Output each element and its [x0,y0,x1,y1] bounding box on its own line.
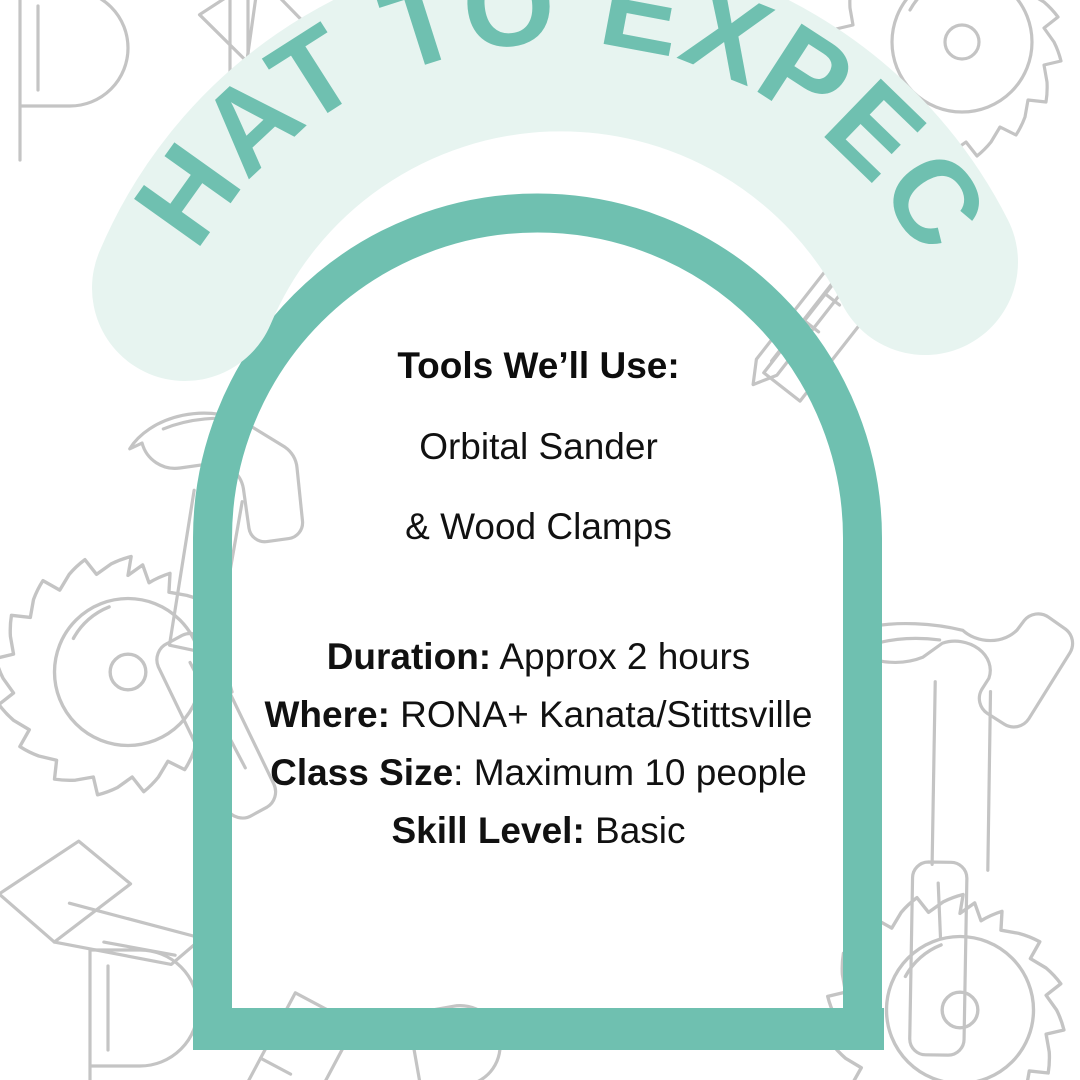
detail-value-class-size: : Maximum 10 people [453,752,807,793]
detail-row-duration: Duration: Approx 2 hours [232,637,845,677]
tools-heading: Tools We’ll Use: [232,345,845,387]
detail-label-duration: Duration: [327,636,491,677]
tools-item-1: & Wood Clamps [232,507,845,547]
detail-value-skill-level: Basic [585,810,686,851]
detail-value-duration: Approx 2 hours [491,636,750,677]
detail-label-where: Where: [265,694,390,735]
detail-label-skill-level: Skill Level: [391,810,584,851]
detail-row-class-size: Class Size: Maximum 10 people [232,753,845,793]
card-text-layer: Tools We’ll Use: Orbital Sander & Wood C… [0,0,1080,1080]
tools-section: Tools We’ll Use: Orbital Sander & Wood C… [232,345,845,547]
detail-row-skill-level: Skill Level: Basic [232,811,845,851]
detail-label-class-size: Class Size [270,752,453,793]
tools-item-0: Orbital Sander [232,427,845,467]
details-section: Duration: Approx 2 hours Where: RONA+ Ka… [232,637,845,851]
detail-row-where: Where: RONA+ Kanata/Stittsville [232,695,845,735]
detail-value-where: RONA+ Kanata/Stittsville [390,694,813,735]
poster-canvas: WHAT TO EXPECT Tools We’ll Use: Orbital … [0,0,1080,1080]
